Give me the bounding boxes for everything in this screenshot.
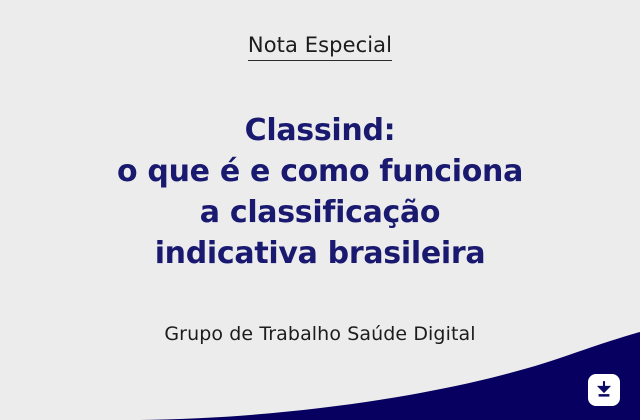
download-button[interactable] bbox=[588, 374, 620, 406]
headline-line-2: o que é e como funciona bbox=[0, 151, 640, 192]
headline-line-3: a classificação bbox=[0, 192, 640, 233]
subtitle-container: Grupo de Trabalho Saúde Digital bbox=[0, 322, 640, 347]
nota-especial-card: Nota Especial Classind: o que é e como f… bbox=[0, 0, 640, 420]
download-icon bbox=[594, 380, 614, 400]
headline-line-4: indicativa brasileira bbox=[0, 233, 640, 274]
subtitle-label: Grupo de Trabalho Saúde Digital bbox=[164, 322, 475, 347]
kicker-container: Nota Especial bbox=[0, 32, 640, 61]
page-title: Classind: o que é e como funciona a clas… bbox=[0, 110, 640, 274]
kicker-label: Nota Especial bbox=[248, 32, 392, 61]
headline-line-1: Classind: bbox=[0, 110, 640, 151]
